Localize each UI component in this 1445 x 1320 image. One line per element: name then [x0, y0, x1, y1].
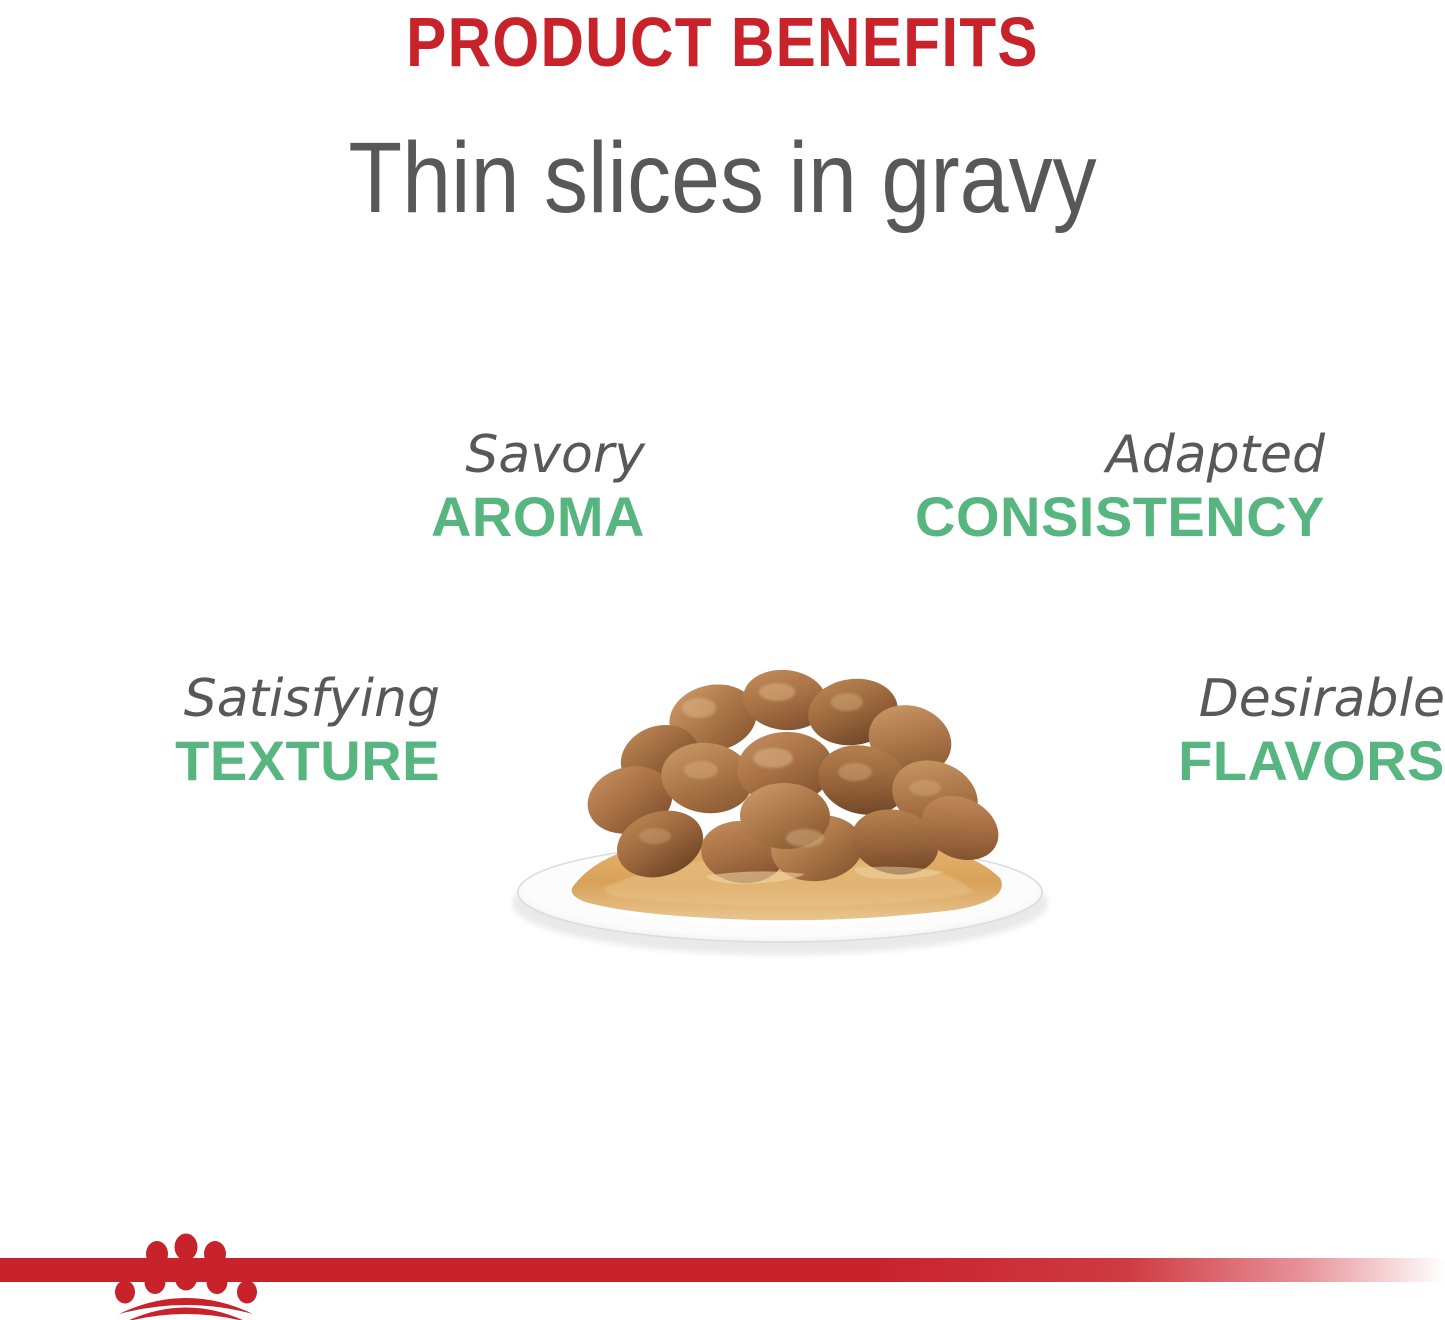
benefit-aroma: Savory AROMA — [145, 424, 645, 548]
benefit-consistency: Adapted CONSISTENCY — [825, 424, 1325, 548]
benefit-adjective: Satisfying — [0, 668, 440, 730]
brand-bar — [0, 1230, 1445, 1320]
food-plate-icon — [455, 600, 1105, 960]
benefit-texture: Satisfying TEXTURE — [0, 668, 440, 792]
benefit-adjective: Adapted — [825, 424, 1325, 486]
royal-canin-crown-logo — [105, 1230, 280, 1320]
benefit-noun: CONSISTENCY — [825, 486, 1325, 548]
benefit-noun: TEXTURE — [0, 730, 440, 792]
page-subtitle: Thin slices in gravy — [87, 126, 1359, 230]
headings-block: PRODUCT BENEFITS Thin slices in gravy — [0, 0, 1445, 230]
page-title: PRODUCT BENEFITS — [101, 0, 1344, 80]
benefit-adjective: Savory — [145, 424, 645, 486]
benefit-noun: AROMA — [145, 486, 645, 548]
